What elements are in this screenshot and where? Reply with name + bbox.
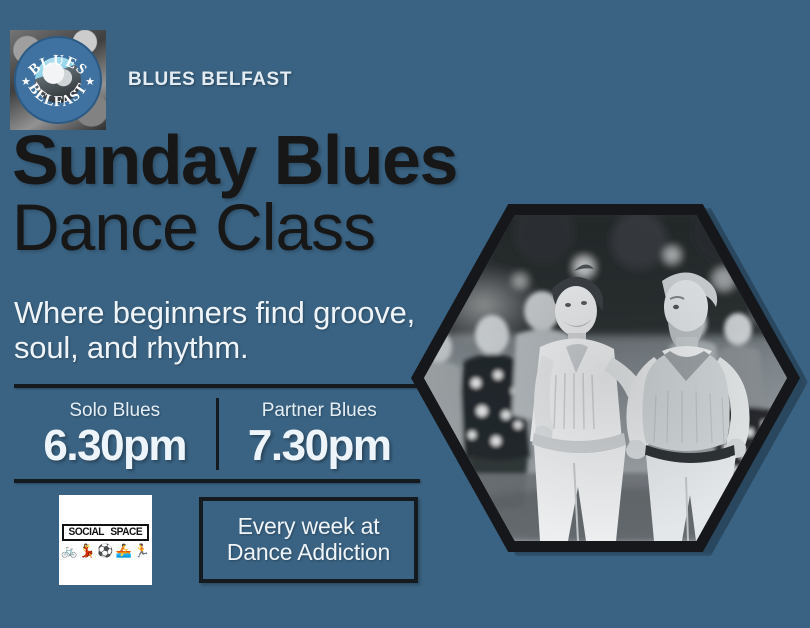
- social-space-word-right: SPACE: [110, 527, 142, 538]
- badge-bottom-text: BELFAST: [25, 80, 91, 110]
- schedule-label-solo: Solo Blues: [69, 401, 160, 420]
- schedule-rule-top: [14, 384, 420, 388]
- headline-line-1: Sunday Blues: [12, 128, 512, 192]
- schedule-time-solo: 6.30pm: [43, 424, 186, 468]
- svg-text:BLUES: BLUES: [26, 53, 90, 79]
- social-space-word-left: SOCIAL: [69, 527, 104, 538]
- ball-icon: ⚽: [97, 544, 113, 557]
- blues-belfast-badge-icon: BLUES BELFAST ★ ★: [10, 30, 106, 130]
- social-space-activity-icons: 🚲 💃 ⚽ 🚣 🏃: [61, 544, 150, 557]
- schedule-label-partner: Partner Blues: [262, 401, 377, 420]
- schedule-item-solo: Solo Blues 6.30pm: [14, 392, 216, 476]
- social-space-logo-icon: SOCIAL SPACE 🚲 💃 ⚽ 🚣 🏃: [59, 495, 152, 585]
- schedule-time-partner: 7.30pm: [248, 424, 391, 468]
- badge-top-text: BLUES: [26, 53, 90, 79]
- brand-header: BLUES BELFAST ★ ★ BLUES BELFAST: [10, 30, 292, 130]
- hero-photo-hexagon: [411, 200, 803, 556]
- badge-star-right-icon: ★: [85, 77, 95, 88]
- venue-note: Every week at Dance Addiction: [227, 514, 390, 566]
- rowing-icon: 🚣: [116, 544, 132, 557]
- poster-canvas: BLUES BELFAST ★ ★ BLUES BELFAST Sunday B…: [0, 0, 810, 628]
- venue-note-line-1: Every week at: [238, 513, 380, 539]
- schedule-block: Solo Blues 6.30pm Partner Blues 7.30pm: [14, 392, 420, 476]
- venue-note-box: Every week at Dance Addiction: [199, 497, 418, 583]
- spin-bike-icon: 🏃: [134, 544, 150, 557]
- social-space-wordmark: SOCIAL SPACE: [62, 524, 148, 541]
- brand-name: BLUES BELFAST: [128, 69, 292, 91]
- badge-star-left-icon: ★: [21, 77, 31, 88]
- bicycle-icon: 🚲: [61, 544, 77, 557]
- svg-text:BELFAST: BELFAST: [25, 80, 91, 110]
- venue-note-line-2: Dance Addiction: [227, 539, 390, 565]
- schedule-item-partner: Partner Blues 7.30pm: [219, 392, 421, 476]
- schedule-rule-bottom: [14, 479, 420, 483]
- dancers-icon: 💃: [79, 544, 95, 557]
